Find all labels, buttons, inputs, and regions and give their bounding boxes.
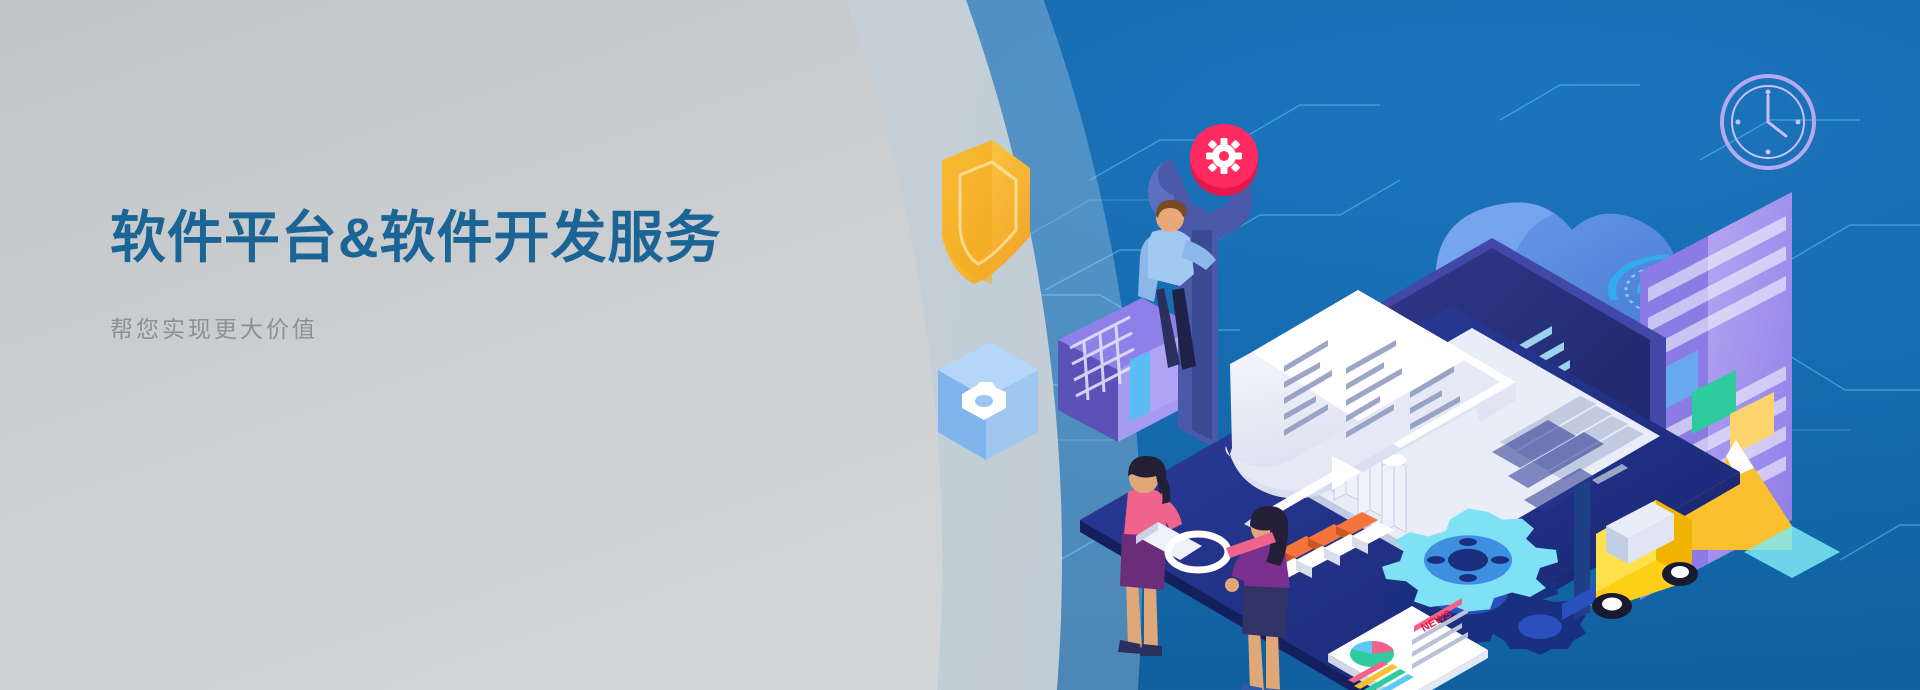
isometric-scene-svg: NEWS [880, 40, 1920, 690]
gear-badge-icon [1190, 124, 1258, 196]
page-title: 软件平台&软件开发服务 [110, 205, 830, 271]
hero-copy: 软件平台&软件开发服务 帮您实现更大价值 [110, 205, 830, 345]
pie-chart-icon [1350, 641, 1394, 667]
page-subtitle: 帮您实现更大价值 [110, 313, 830, 345]
hero-banner: 软件平台&软件开发服务 帮您实现更大价值 [0, 0, 1920, 690]
shield-icon [942, 140, 1030, 284]
clock-icon [1722, 76, 1814, 168]
hero-illustration: NEWS [880, 40, 1920, 690]
camera-icon [938, 342, 1038, 460]
